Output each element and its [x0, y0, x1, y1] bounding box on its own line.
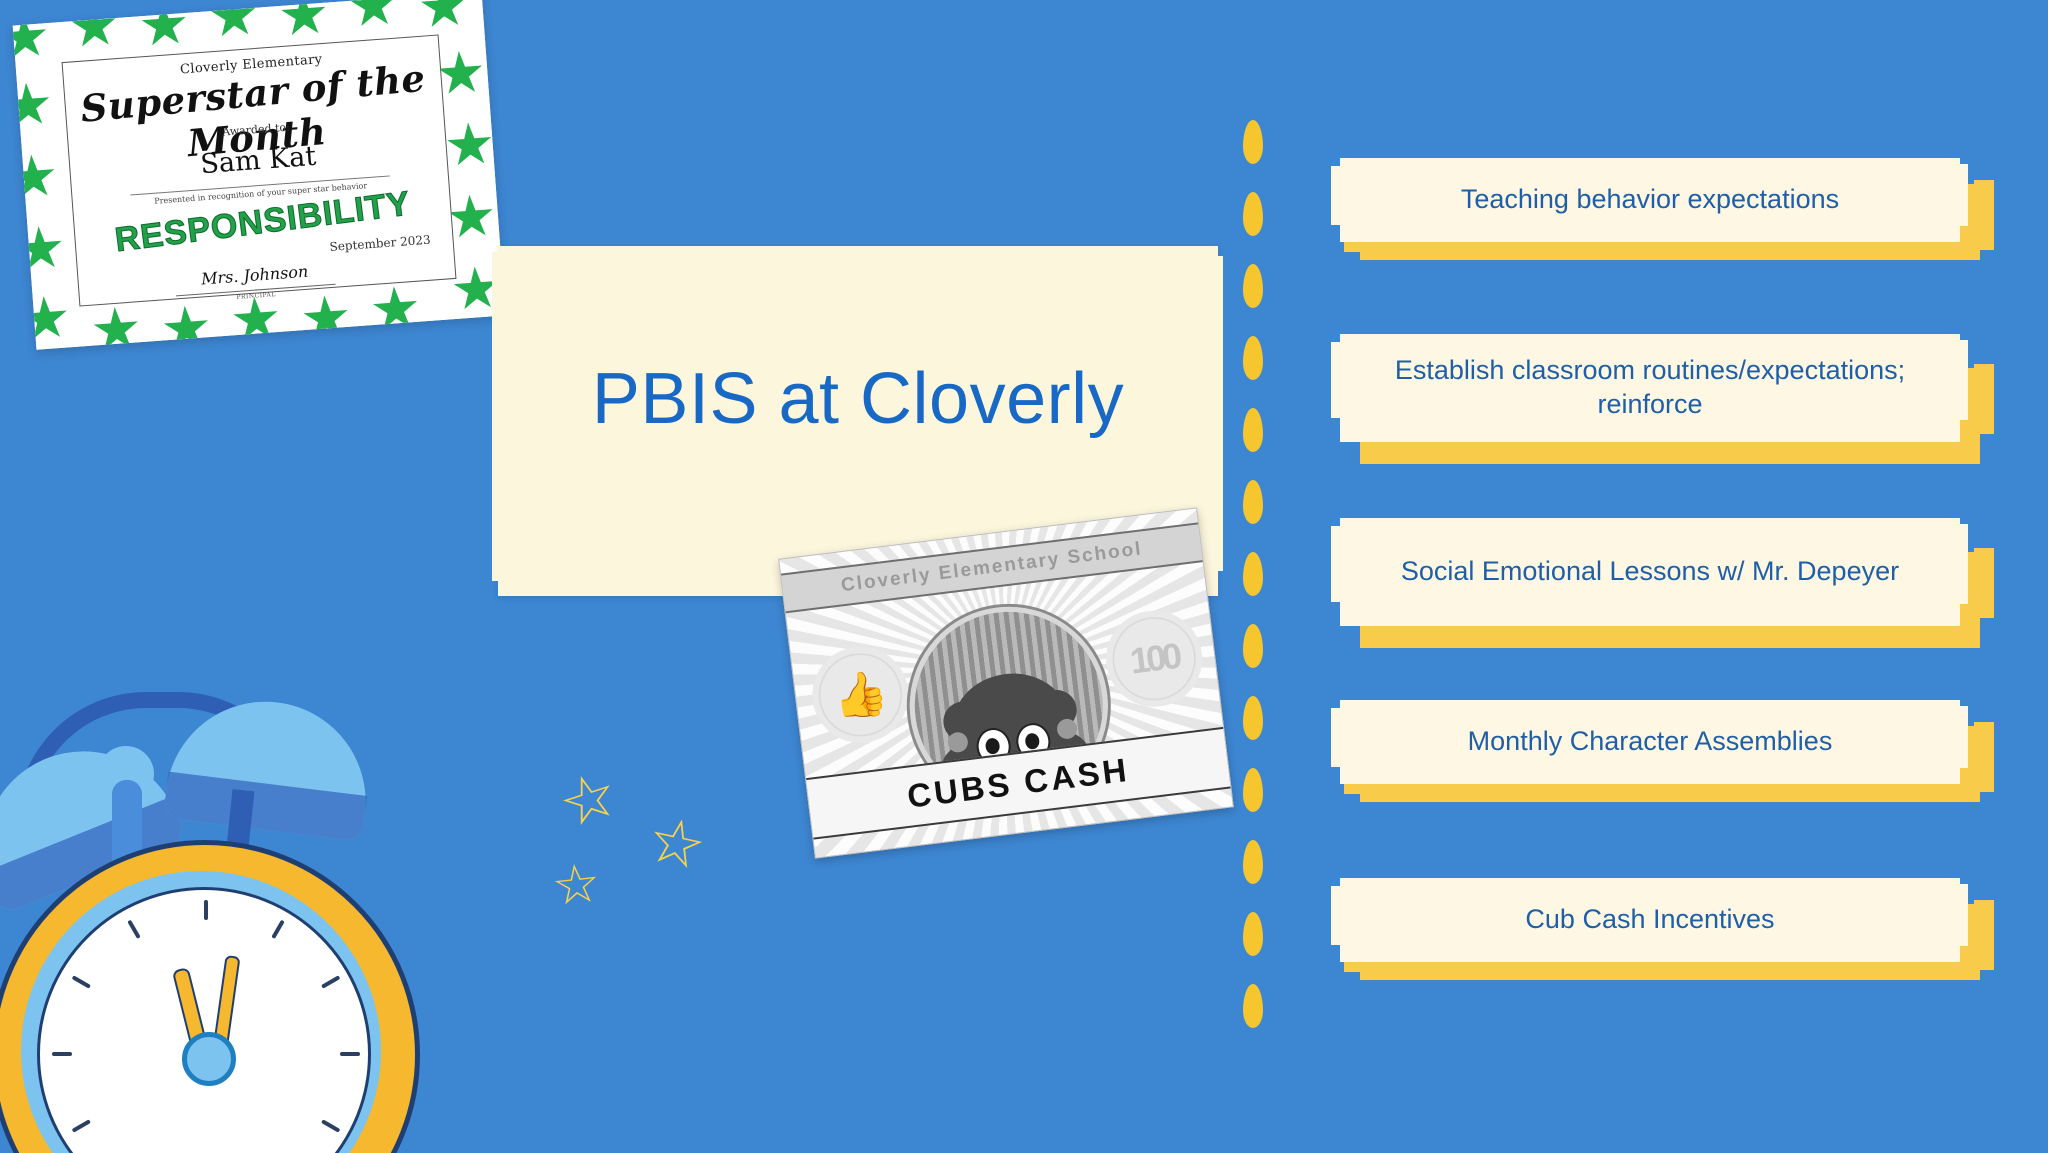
alarm-clock-icon — [0, 650, 520, 1153]
dotted-divider — [1243, 120, 1269, 1040]
certificate-date: September 2023 — [329, 233, 431, 254]
certificate-image: Cloverly Elementary Superstar of the Mon… — [13, 0, 506, 350]
certificate-inner-frame: Cloverly Elementary Superstar of the Mon… — [62, 34, 457, 306]
list-item-label: Monthly Character Assemblies — [1468, 725, 1833, 759]
list-item-card[interactable]: Cub Cash Incentives — [1340, 878, 1960, 962]
cubs-cash-image: Cloverly Elementary School 👍 100 CUBS CA… — [778, 507, 1234, 858]
star-doodle-1: ☆ — [552, 761, 626, 840]
list-item-label: Establish classroom routines/expectation… — [1370, 354, 1930, 422]
slide-canvas: Cloverly Elementary Superstar of the Mon… — [0, 0, 2048, 1153]
list-item-label: Social Emotional Lessons w/ Mr. Depeyer — [1401, 555, 1899, 589]
clock-ring — [21, 871, 381, 1153]
list-item-card[interactable]: Social Emotional Lessons w/ Mr. Depeyer — [1340, 518, 1960, 626]
page-title: PBIS at Cloverly — [498, 358, 1218, 440]
clock-face — [37, 887, 371, 1153]
star-doodle-2: ☆ — [642, 807, 711, 882]
list-item-label: Teaching behavior expectations — [1461, 183, 1839, 217]
clock-center-pin — [182, 1032, 236, 1086]
list-item-card[interactable]: Establish classroom routines/expectation… — [1340, 334, 1960, 442]
star-doodle-3: ☆ — [549, 856, 603, 915]
list-item-label: Cub Cash Incentives — [1525, 903, 1774, 937]
list-item-card[interactable]: Monthly Character Assemblies — [1340, 700, 1960, 784]
list-item-card[interactable]: Teaching behavior expectations — [1340, 158, 1960, 242]
